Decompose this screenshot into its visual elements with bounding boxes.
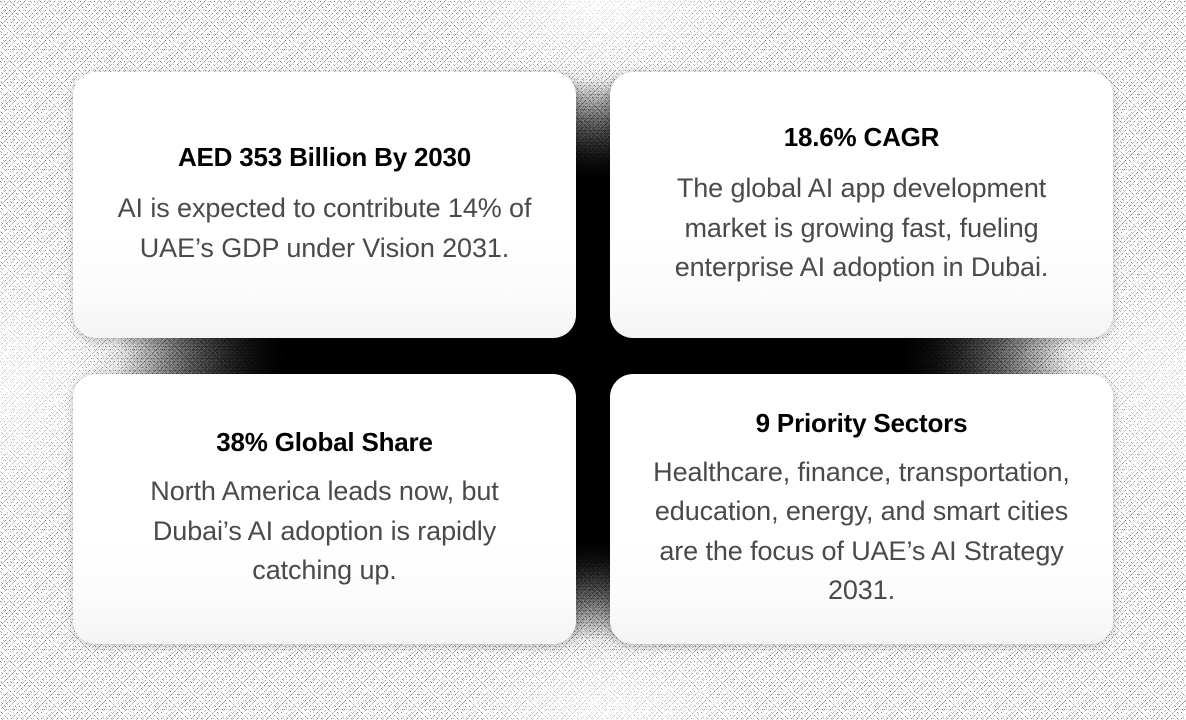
stat-card-title: 9 Priority Sectors <box>756 408 968 439</box>
stat-card-body: North America leads now, but Dubai’s AI … <box>120 472 530 590</box>
stat-card-title: 38% Global Share <box>216 427 432 458</box>
stat-card-body: Healthcare, finance, transportation, edu… <box>636 453 1087 611</box>
stat-card-title: AED 353 Billion By 2030 <box>178 142 471 173</box>
stat-card-title: 18.6% CAGR <box>784 122 940 153</box>
stat-card-cagr[interactable]: 18.6% CAGR The global AI app development… <box>610 72 1113 338</box>
stat-card-global-share[interactable]: 38% Global Share North America leads now… <box>73 374 576 644</box>
glow-top <box>455 0 755 72</box>
stat-card-body: The global AI app development market is … <box>646 169 1078 287</box>
stat-card-aed-353-billion[interactable]: AED 353 Billion By 2030 AI is expected t… <box>73 72 576 338</box>
stat-card-priority-sectors[interactable]: 9 Priority Sectors Healthcare, finance, … <box>610 374 1113 644</box>
stat-card-grid: AED 353 Billion By 2030 AI is expected t… <box>73 72 1113 644</box>
glow-bottom <box>470 652 750 720</box>
stat-card-body: AI is expected to contribute 14% of UAE’… <box>99 189 550 268</box>
